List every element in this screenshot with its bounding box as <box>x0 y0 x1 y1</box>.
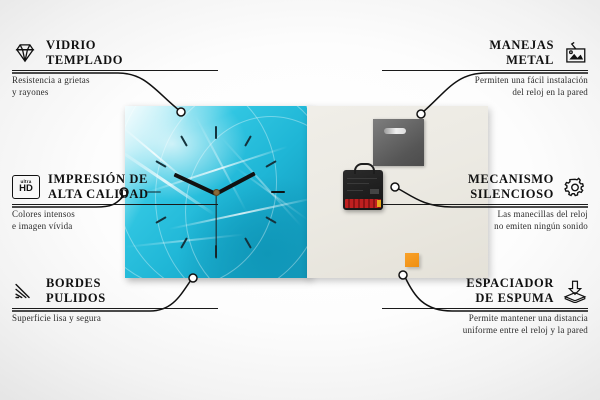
callout-rule <box>12 204 218 205</box>
callout-rule <box>12 308 218 309</box>
callout-title: ESPACIADOR DE ESPUMA <box>466 276 554 305</box>
callout-rule <box>382 204 588 205</box>
callout-description: Permiten una fácil instalación del reloj… <box>382 75 588 98</box>
callout-manejas-metal: MANEJAS METAL Permiten una fácil instala… <box>382 38 588 98</box>
battery-compartment <box>345 199 381 208</box>
diamond-icon <box>12 41 38 65</box>
callout-rule <box>382 308 588 309</box>
metal-hanger-plate <box>373 119 424 166</box>
battery-terminal <box>377 200 381 207</box>
callout-title: MECANISMO SILENCIOSO <box>468 172 554 201</box>
polished-edges-icon <box>12 279 38 303</box>
callout-mecanismo-silencioso: MECANISMO SILENCIOSO Las manecillas del … <box>382 172 588 232</box>
foam-spacer-arrow-icon <box>562 279 588 303</box>
foam-spacer <box>405 253 419 267</box>
gear-icon <box>562 175 588 199</box>
callout-espaciador-espuma: ESPACIADOR DE ESPUMA Permite mantener un… <box>382 276 588 336</box>
callout-description: Superficie lisa y segura <box>12 313 218 325</box>
callout-description: Las manecillas del reloj no emiten ningú… <box>382 209 588 232</box>
infographic-canvas: VIDRIO TEMPLADO Resistencia a grietas y … <box>0 0 600 400</box>
callout-vidrio-templado: VIDRIO TEMPLADO Resistencia a grietas y … <box>12 38 218 98</box>
callout-bordes-pulidos: BORDES PULIDOS Superficie lisa y segura <box>12 276 218 325</box>
mechanism-hanger-loop <box>354 163 375 174</box>
callout-title: BORDES PULIDOS <box>46 276 106 305</box>
callout-title: VIDRIO TEMPLADO <box>46 38 123 67</box>
callout-rule <box>382 70 588 71</box>
clock-mechanism <box>343 170 383 210</box>
callout-title: IMPRESIÓN DE ALTA CALIDAD <box>48 172 149 201</box>
ultra-hd-main-label: HD <box>19 184 33 194</box>
callout-rule <box>12 70 218 71</box>
hanger-slot <box>384 128 406 134</box>
callout-impresion-alta-calidad: ultra HD IMPRESIÓN DE ALTA CALIDAD Color… <box>12 172 218 232</box>
ultra-hd-icon: ultra HD <box>12 175 40 199</box>
callout-description: Permite mantener una distancia uniforme … <box>382 313 588 336</box>
callout-description: Colores intensos e imagen vívida <box>12 209 218 232</box>
picture-frame-hanger-icon <box>562 41 588 65</box>
callout-description: Resistencia a grietas y rayones <box>12 75 218 98</box>
callout-title: MANEJAS METAL <box>489 38 554 67</box>
